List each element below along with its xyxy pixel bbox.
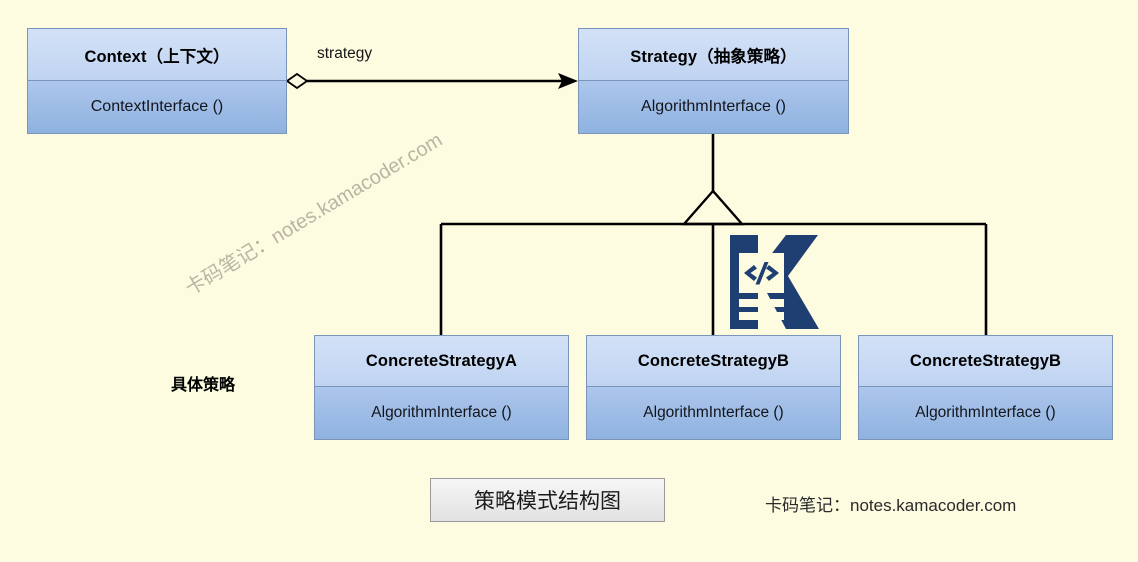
- group-label-concrete-strategies: 具体策略: [171, 371, 235, 395]
- class-name-concrete-strategy-b: ConcreteStrategyB: [587, 336, 840, 387]
- diagram-caption: 策略模式结构图: [430, 478, 665, 522]
- class-name-strategy: Strategy（抽象策略）: [579, 29, 848, 81]
- class-name-concrete-strategy-a: ConcreteStrategyA: [315, 336, 568, 387]
- edge-context-strategy: [287, 73, 578, 89]
- watermark-text: 卡码笔记：notes.kamacoder.com: [179, 124, 447, 301]
- class-operations-strategy: AlgorithmInterface (): [579, 81, 848, 133]
- class-name-concrete-strategy-c: ConcreteStrategyB: [859, 336, 1112, 387]
- edge-generalization-tree: [441, 134, 986, 335]
- class-box-concrete-strategy-a[interactable]: ConcreteStrategyA AlgorithmInterface (): [314, 335, 569, 440]
- footer-credit-text: 卡码笔记：notes.kamacoder.com: [765, 491, 1016, 516]
- class-operations-concrete-strategy-c: AlgorithmInterface (): [859, 387, 1112, 439]
- class-operations-concrete-strategy-a: AlgorithmInterface (): [315, 387, 568, 439]
- class-operations-concrete-strategy-b: AlgorithmInterface (): [587, 387, 840, 439]
- class-box-context[interactable]: Context（上下文） ContextInterface (): [27, 28, 287, 134]
- class-box-concrete-strategy-b[interactable]: ConcreteStrategyB AlgorithmInterface (): [586, 335, 841, 440]
- class-operations-context: ContextInterface (): [28, 81, 286, 133]
- kamacoder-logo-icon: [722, 231, 820, 333]
- diagram-canvas: Context（上下文） ContextInterface () Strateg…: [0, 0, 1138, 562]
- class-box-strategy[interactable]: Strategy（抽象策略） AlgorithmInterface (): [578, 28, 849, 134]
- class-name-context: Context（上下文）: [28, 29, 286, 81]
- class-box-concrete-strategy-c[interactable]: ConcreteStrategyB AlgorithmInterface (): [858, 335, 1113, 440]
- association-label-strategy: strategy: [317, 45, 372, 63]
